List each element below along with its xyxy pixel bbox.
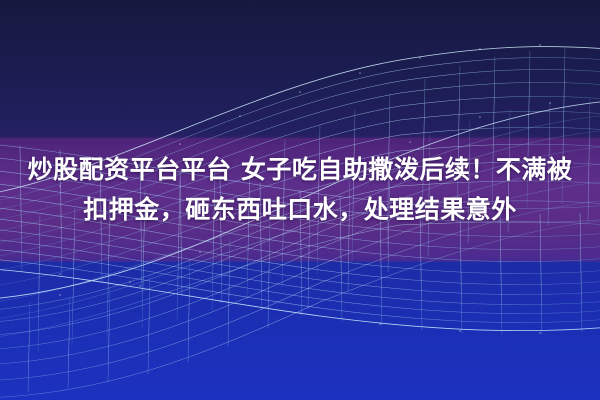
headline-line-2: 扣押金，砸东西吐口水，处理结果意外 xyxy=(0,190,600,230)
promo-banner: 炒股配资平台平台 女子吃自助撒泼后续！不满被 扣押金，砸东西吐口水，处理结果意外 xyxy=(0,0,600,400)
headline-line-1: 炒股配资平台平台 女子吃自助撒泼后续！不满被 xyxy=(0,150,600,190)
headline-text: 炒股配资平台平台 女子吃自助撒泼后续！不满被 扣押金，砸东西吐口水，处理结果意外 xyxy=(0,150,600,230)
